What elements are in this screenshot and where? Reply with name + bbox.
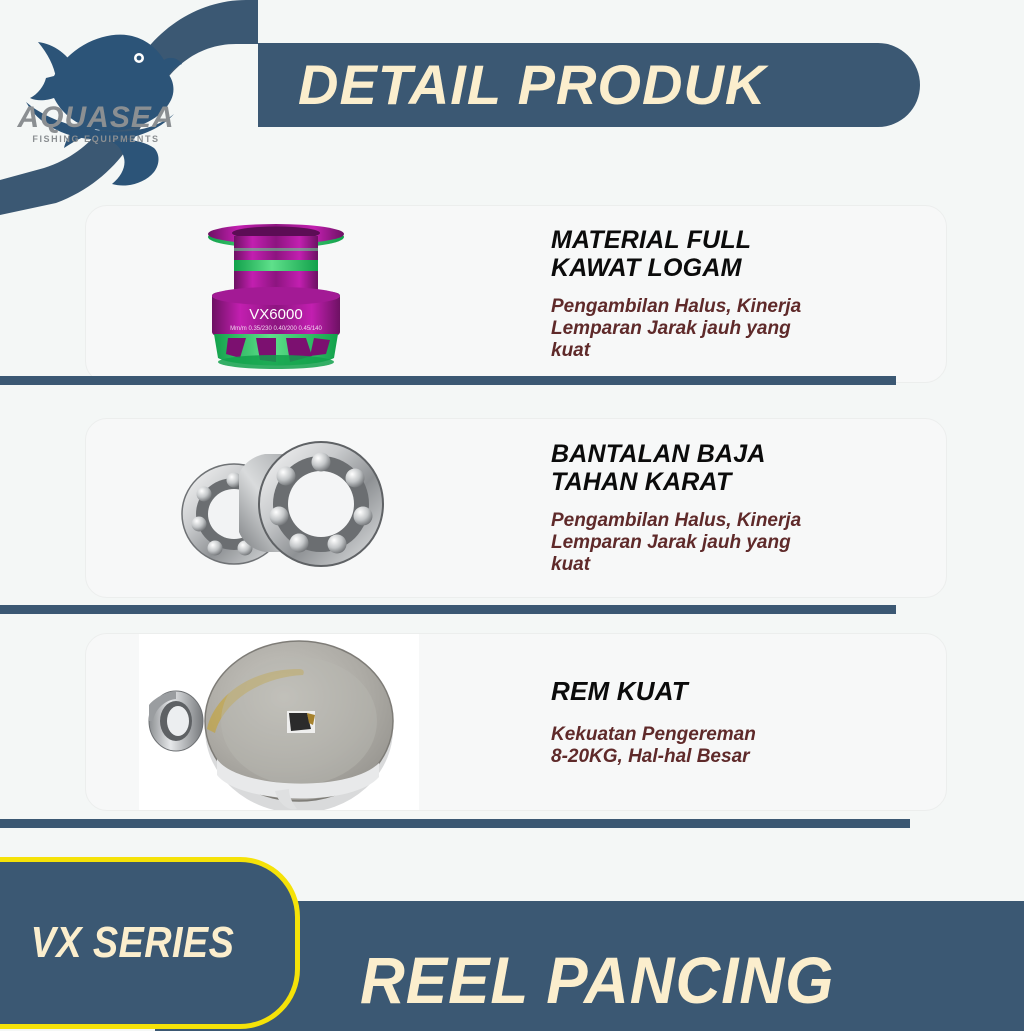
feature-title: MATERIAL FULL KAWAT LOGAM [551,226,922,282]
page-footer: VX SERIES REEL PANCING [0,845,1024,1024]
feature-title: REM KUAT [551,677,922,706]
brand-tagline: FISHING EQUIPMENTS [32,134,159,144]
feature-text-material: MATERIAL FULL KAWAT LOGAM Pengambilan Ha… [551,206,946,382]
feature-description: Kekuatan Pengereman 8-20KG, Hal-hal Besa… [551,724,922,768]
feature-image-bearings [86,419,466,597]
spool-spec-label: Mm/m 0.35/230 0.40/200 0.45/140 [230,326,322,332]
footer-product-title: REEL PANCING [360,942,834,1018]
page-header: AQUASEA FISHING EQUIPMENTS DETAIL PRODUK [0,0,1024,200]
brand-logo: AQUASEA FISHING EQUIPMENTS [8,14,188,189]
series-label: VX SERIES [31,918,235,968]
stainless-steel-ball-bearings-icon [161,428,391,588]
page-title: DETAIL PRODUK [298,57,766,113]
purple-green-reel-spool-icon: VX6000 Mm/m 0.35/230 0.40/200 0.45/140 [176,212,376,377]
brand-wordmark: AQUASEA [16,101,174,134]
card-divider-1 [0,376,896,385]
feature-card-bearings[interactable]: BANTALAN BAJA TAHAN KARAT Pengambilan Ha… [85,418,947,598]
feature-card-brake[interactable]: REM KUAT Kekuatan Pengereman 8-20KG, Hal… [85,633,947,811]
card-divider-2 [0,605,896,614]
feature-description: Pengambilan Halus, Kinerja Lemparan Jara… [551,296,922,362]
header-title-banner: DETAIL PRODUK [258,43,920,127]
aquasea-fish-logo-icon: AQUASEA FISHING EQUIPMENTS [8,14,188,189]
card-divider-3 [0,819,910,828]
feature-text-bearings: BANTALAN BAJA TAHAN KARAT Pengambilan Ha… [551,419,946,597]
feature-title: BANTALAN BAJA TAHAN KARAT [551,440,922,496]
feature-text-brake: REM KUAT Kekuatan Pengereman 8-20KG, Hal… [551,634,946,810]
series-badge[interactable]: VX SERIES [0,857,300,1029]
feature-image-brake [86,634,466,810]
feature-card-material[interactable]: VX6000 Mm/m 0.35/230 0.40/200 0.45/140 M… [85,205,947,383]
feature-image-spool: VX6000 Mm/m 0.35/230 0.40/200 0.45/140 [86,206,466,382]
spool-model-label: VX6000 [249,306,302,323]
drag-brake-disc-and-bearing-icon [121,633,431,811]
feature-description: Pengambilan Halus, Kinerja Lemparan Jara… [551,510,922,576]
